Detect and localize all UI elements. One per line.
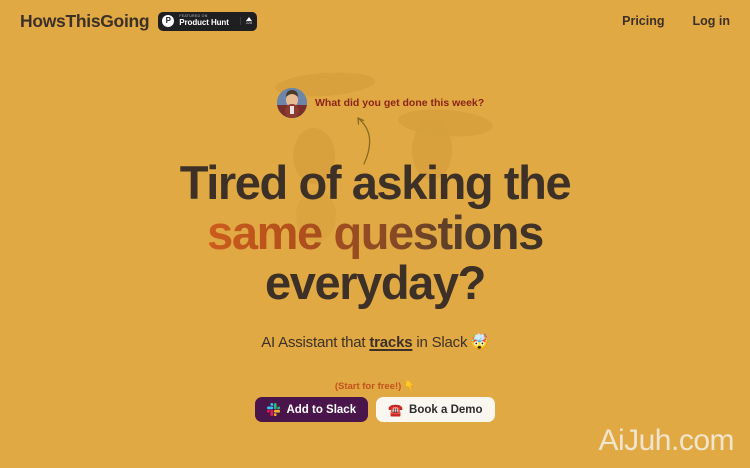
nav-login[interactable]: Log in xyxy=(693,14,731,28)
cta-section: (Start for free!)👇 Add to Slack ☎️ Boo xyxy=(0,381,750,422)
page-title: Tired of asking the same questions every… xyxy=(0,158,750,308)
free-note: (Start for free!)👇 xyxy=(0,381,750,392)
slack-icon xyxy=(267,403,280,416)
site-header: HowsThisGoing P FEATURED ON Product Hunt… xyxy=(0,0,750,42)
add-to-slack-label: Add to Slack xyxy=(286,404,356,416)
book-a-demo-button[interactable]: ☎️ Book a Demo xyxy=(376,397,494,422)
main-nav: Pricing Log in xyxy=(622,14,730,28)
nav-pricing[interactable]: Pricing xyxy=(622,14,664,28)
product-hunt-name: Product Hunt xyxy=(179,19,228,27)
subtitle-prefix: AI Assistant that xyxy=(261,334,369,351)
headline-line-1: Tired of asking the xyxy=(180,156,570,209)
hero-section: Tired of asking the same questions every… xyxy=(0,158,750,351)
cta-button-row: Add to Slack ☎️ Book a Demo xyxy=(0,397,750,422)
book-a-demo-label: Book a Demo xyxy=(409,404,483,416)
headline-line-2: same questions xyxy=(207,206,543,259)
watermark: AiJuh.com xyxy=(598,424,734,458)
exploding-head-icon: 🤯 xyxy=(470,334,488,351)
pointing-down-icon: 👇 xyxy=(403,381,415,392)
hero-subtitle: AI Assistant that tracks in Slack🤯 xyxy=(0,333,750,351)
product-hunt-text: FEATURED ON Product Hunt xyxy=(179,15,228,28)
product-hunt-icon: P xyxy=(162,15,174,27)
landing-page: HowsThisGoing P FEATURED ON Product Hunt… xyxy=(0,0,750,468)
avatar xyxy=(277,88,307,118)
free-note-text: (Start for free!) xyxy=(335,381,402,392)
headline-line-3: everyday? xyxy=(265,256,485,309)
subtitle-suffix: in Slack xyxy=(412,334,467,351)
chat-bubble-message: What did you get done this week? xyxy=(315,97,484,109)
product-hunt-badge[interactable]: P FEATURED ON Product Hunt 328 xyxy=(158,12,257,31)
product-hunt-upvote-count: 328 xyxy=(246,22,253,26)
telephone-icon: ☎️ xyxy=(388,403,403,417)
brand-logo[interactable]: HowsThisGoing xyxy=(20,11,149,32)
add-to-slack-button[interactable]: Add to Slack xyxy=(255,397,368,422)
subtitle-highlight: tracks xyxy=(369,334,412,351)
chat-bubble: What did you get done this week? xyxy=(277,88,484,118)
product-hunt-upvote[interactable]: 328 xyxy=(240,17,253,26)
